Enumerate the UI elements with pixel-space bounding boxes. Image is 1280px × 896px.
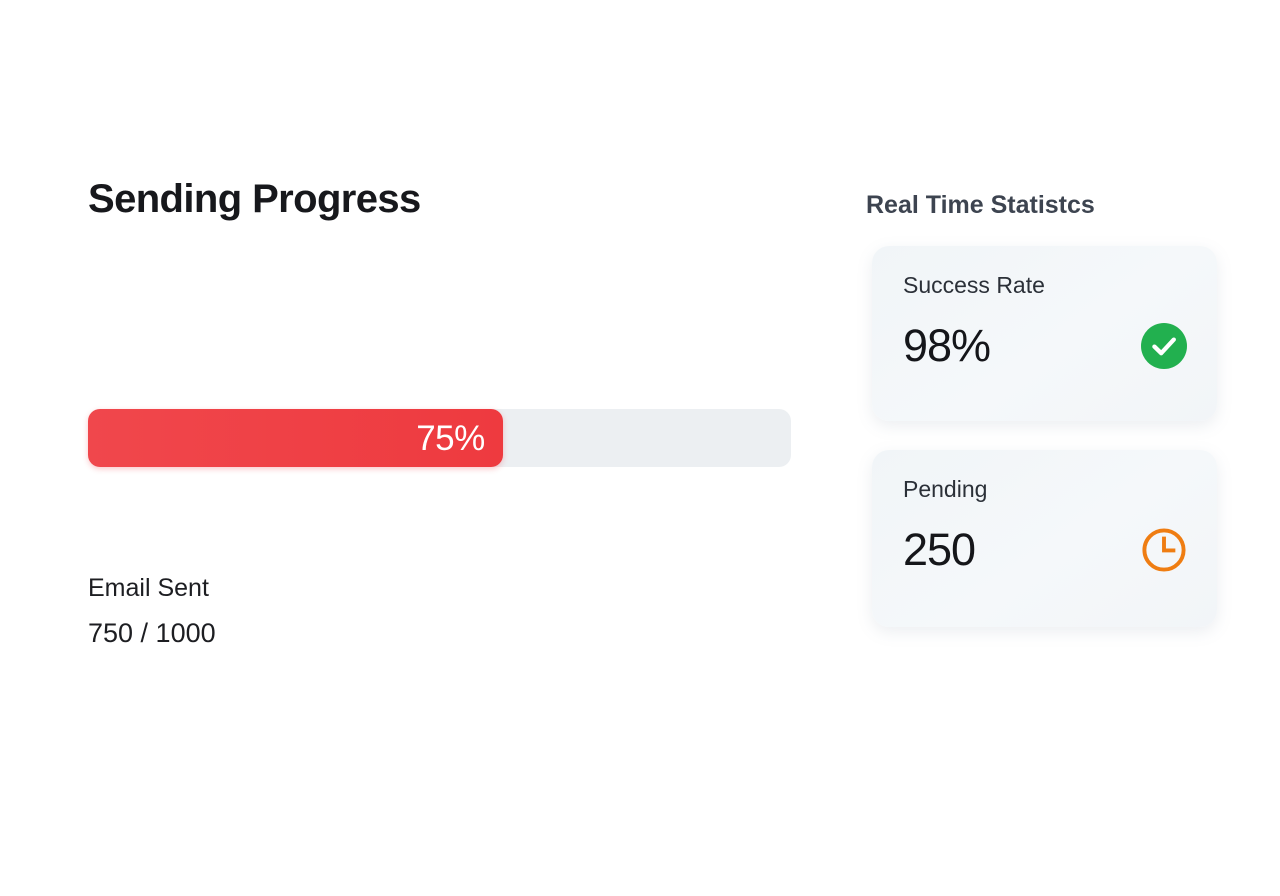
stat-label-success-rate: Success Rate: [903, 272, 1187, 300]
stat-label-pending: Pending: [903, 476, 1187, 504]
page-title: Sending Progress: [88, 176, 792, 222]
clock-icon: [1141, 527, 1187, 573]
real-time-statistics-panel: Real Time Statistcs Success Rate 98% Pen…: [866, 190, 1226, 220]
dashboard-stage: Sending Progress 75% Email Sent 750 / 10…: [0, 0, 1280, 896]
stat-row-pending: 250: [903, 527, 1187, 573]
email-sent-label: Email Sent: [88, 572, 216, 604]
statistics-title: Real Time Statistcs: [866, 190, 1226, 220]
sending-progress-panel: Sending Progress 75% Email Sent 750 / 10…: [88, 176, 792, 222]
stat-value-pending: 250: [903, 527, 975, 572]
stat-row-success-rate: 98%: [903, 323, 1187, 369]
stat-card-success-rate[interactable]: Success Rate 98%: [872, 246, 1217, 421]
progress-fill: 75%: [88, 409, 503, 467]
email-sent-block: Email Sent 750 / 1000: [88, 572, 216, 651]
progress-value-label: 75%: [416, 421, 485, 456]
stat-value-success-rate: 98%: [903, 323, 990, 368]
progress-bar[interactable]: 75%: [88, 409, 791, 467]
email-sent-count: 750 / 1000: [88, 616, 216, 651]
check-circle-icon: [1141, 323, 1187, 369]
stat-card-pending[interactable]: Pending 250: [872, 450, 1217, 627]
